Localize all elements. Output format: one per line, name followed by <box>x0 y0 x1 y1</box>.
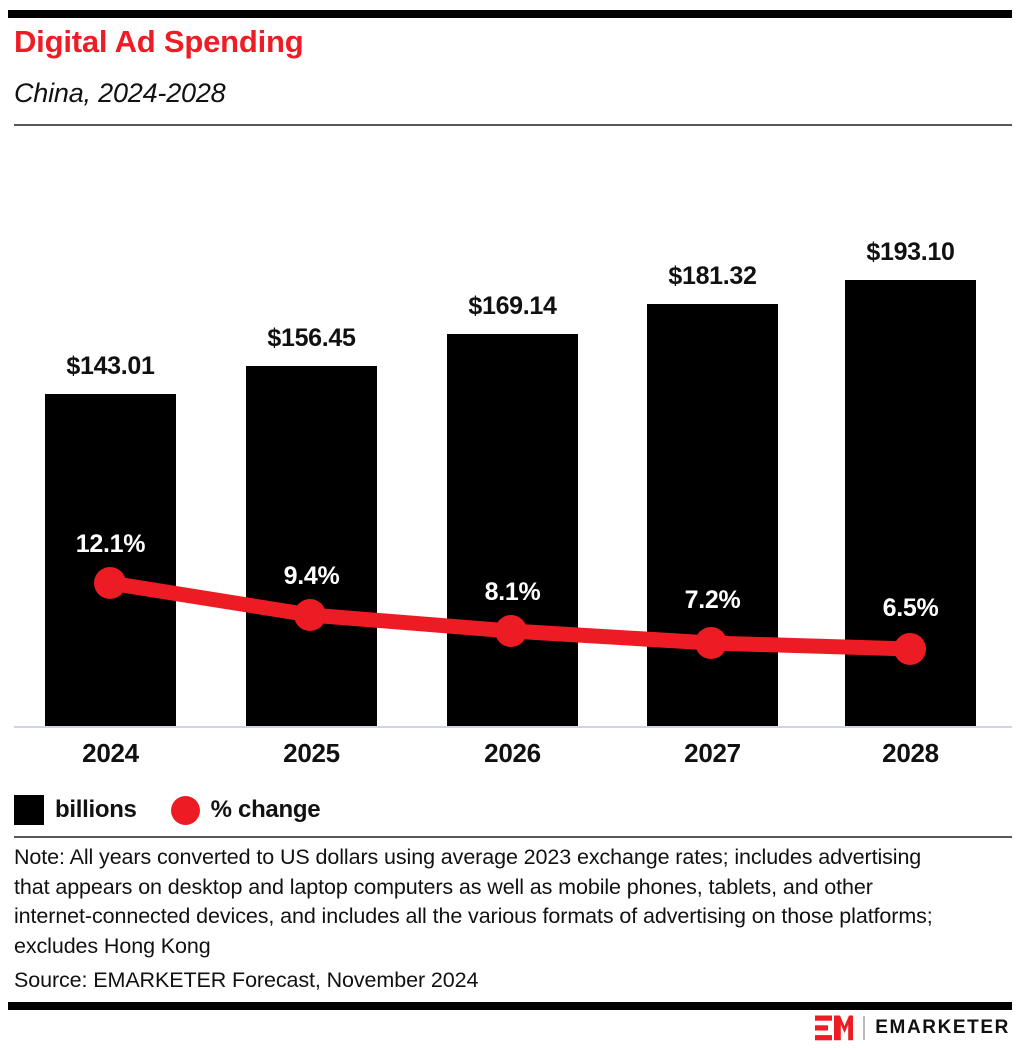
legend-circle-icon <box>171 796 200 825</box>
brand-divider <box>863 1016 865 1040</box>
x-axis-tick-2026: 2026 <box>407 738 618 769</box>
footer-divider <box>8 1002 1012 1010</box>
legend-item-percent-change: % change <box>171 796 321 825</box>
x-axis-tick-2025: 2025 <box>206 738 417 769</box>
legend-divider <box>14 836 1012 838</box>
chart-legend: billions % change <box>14 793 354 827</box>
x-axis-tick-2027: 2027 <box>607 738 818 769</box>
percent-change-label: 8.1% <box>407 578 618 607</box>
legend-item-billions: billions <box>14 795 137 825</box>
x-axis-tick-2028: 2028 <box>805 738 1016 769</box>
percent-change-label: 6.5% <box>805 594 1016 623</box>
percent-change-label: 7.2% <box>607 586 818 615</box>
brand-logo: EMARKETER <box>815 1014 1010 1042</box>
percent-change-label: 9.4% <box>206 562 417 591</box>
percent-change-line <box>0 0 1020 760</box>
chart-source: Source: EMARKETER Forecast, November 202… <box>14 968 478 993</box>
chart-plot-area: $143.01 $156.45 $169.14 $181.32 $193.10 … <box>0 0 1020 760</box>
legend-square-icon <box>14 795 44 825</box>
emarketer-em-icon <box>815 1015 853 1041</box>
chart-page: Digital Ad Spending China, 2024-2028 $14… <box>0 0 1020 1048</box>
brand-wordmark: EMARKETER <box>875 1017 1010 1039</box>
x-axis-tick-2024: 2024 <box>5 738 216 769</box>
percent-change-label: 12.1% <box>5 530 216 559</box>
chart-note: Note: All years converted to US dollars … <box>14 843 934 961</box>
legend-label-percent-change: % change <box>211 796 321 824</box>
legend-label-billions: billions <box>55 796 137 824</box>
